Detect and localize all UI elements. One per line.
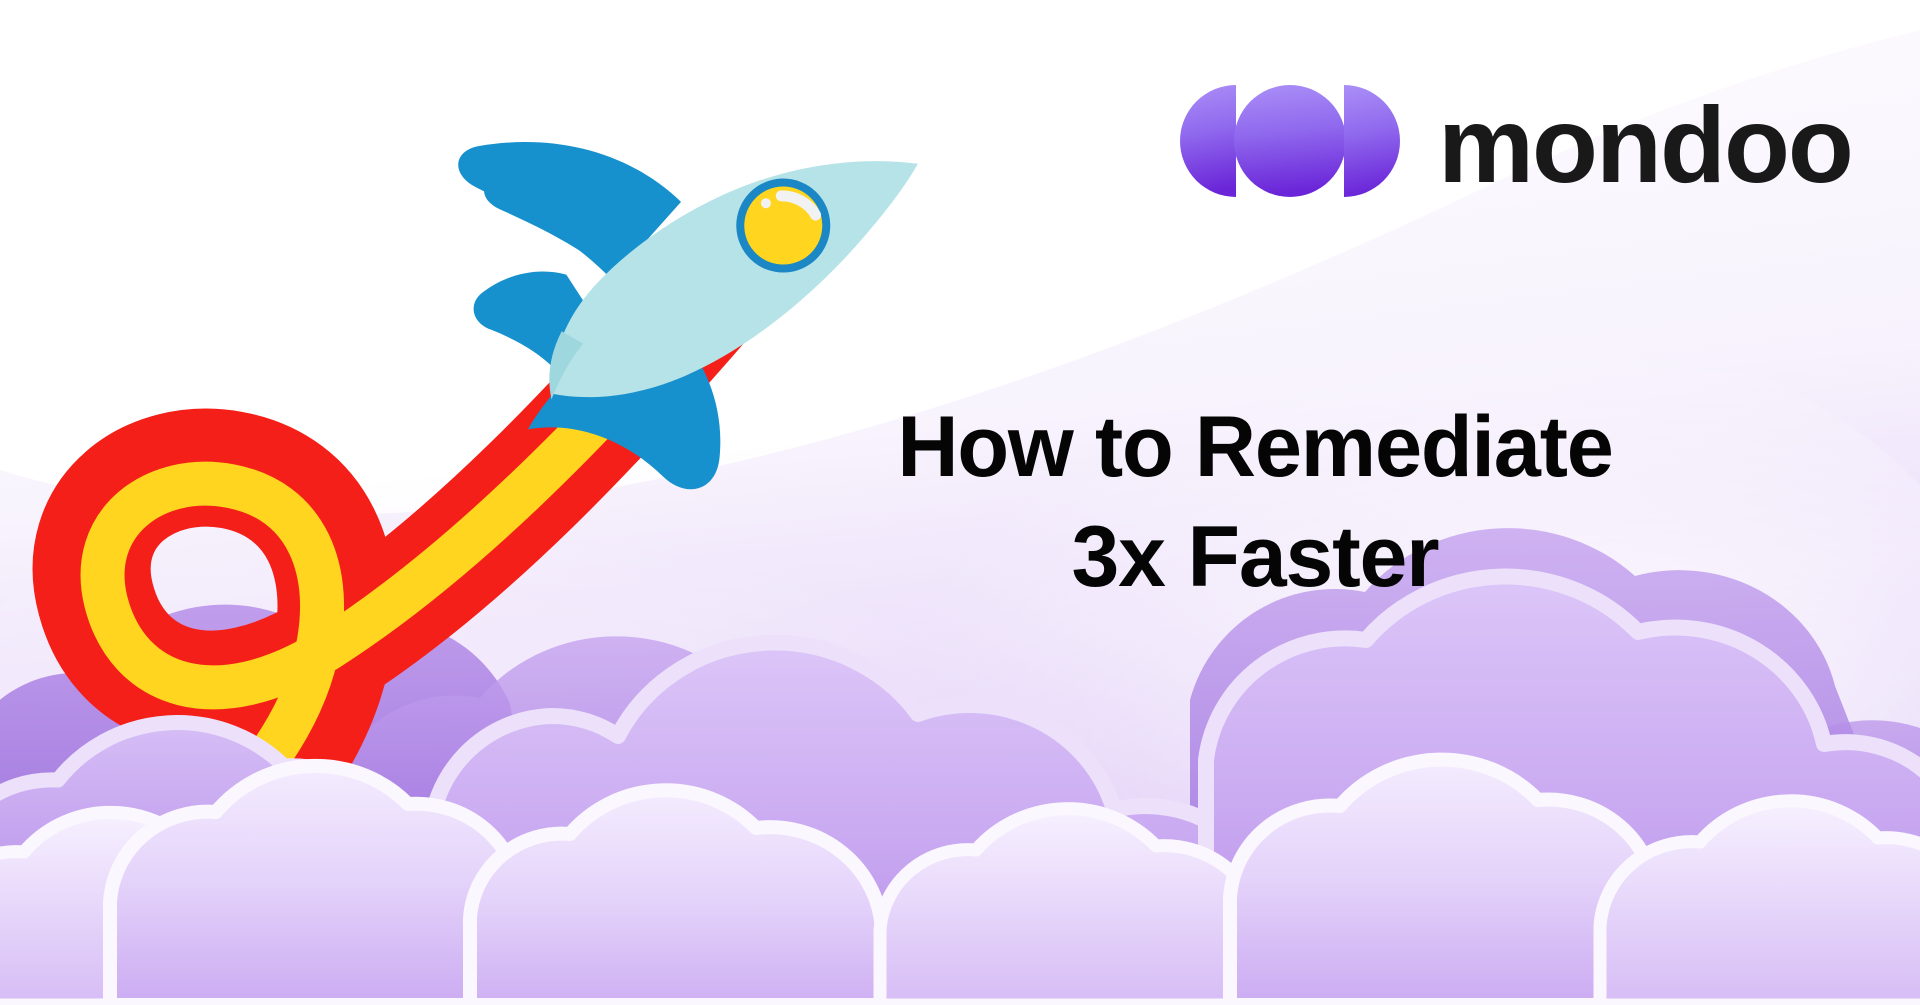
mondoo-wordmark: mondoo — [1438, 91, 1852, 199]
mondoo-logo-mark — [1180, 85, 1400, 197]
banner-canvas: mondoo How to Remediate 3x Faster — [0, 0, 1920, 1005]
headline-line-1: How to Remediate — [708, 392, 1801, 502]
mondoo-logo[interactable]: mondoo — [1180, 85, 1852, 197]
page-title: How to Remediate 3x Faster — [700, 392, 1810, 612]
headline-line-2: 3x Faster — [700, 502, 1810, 612]
